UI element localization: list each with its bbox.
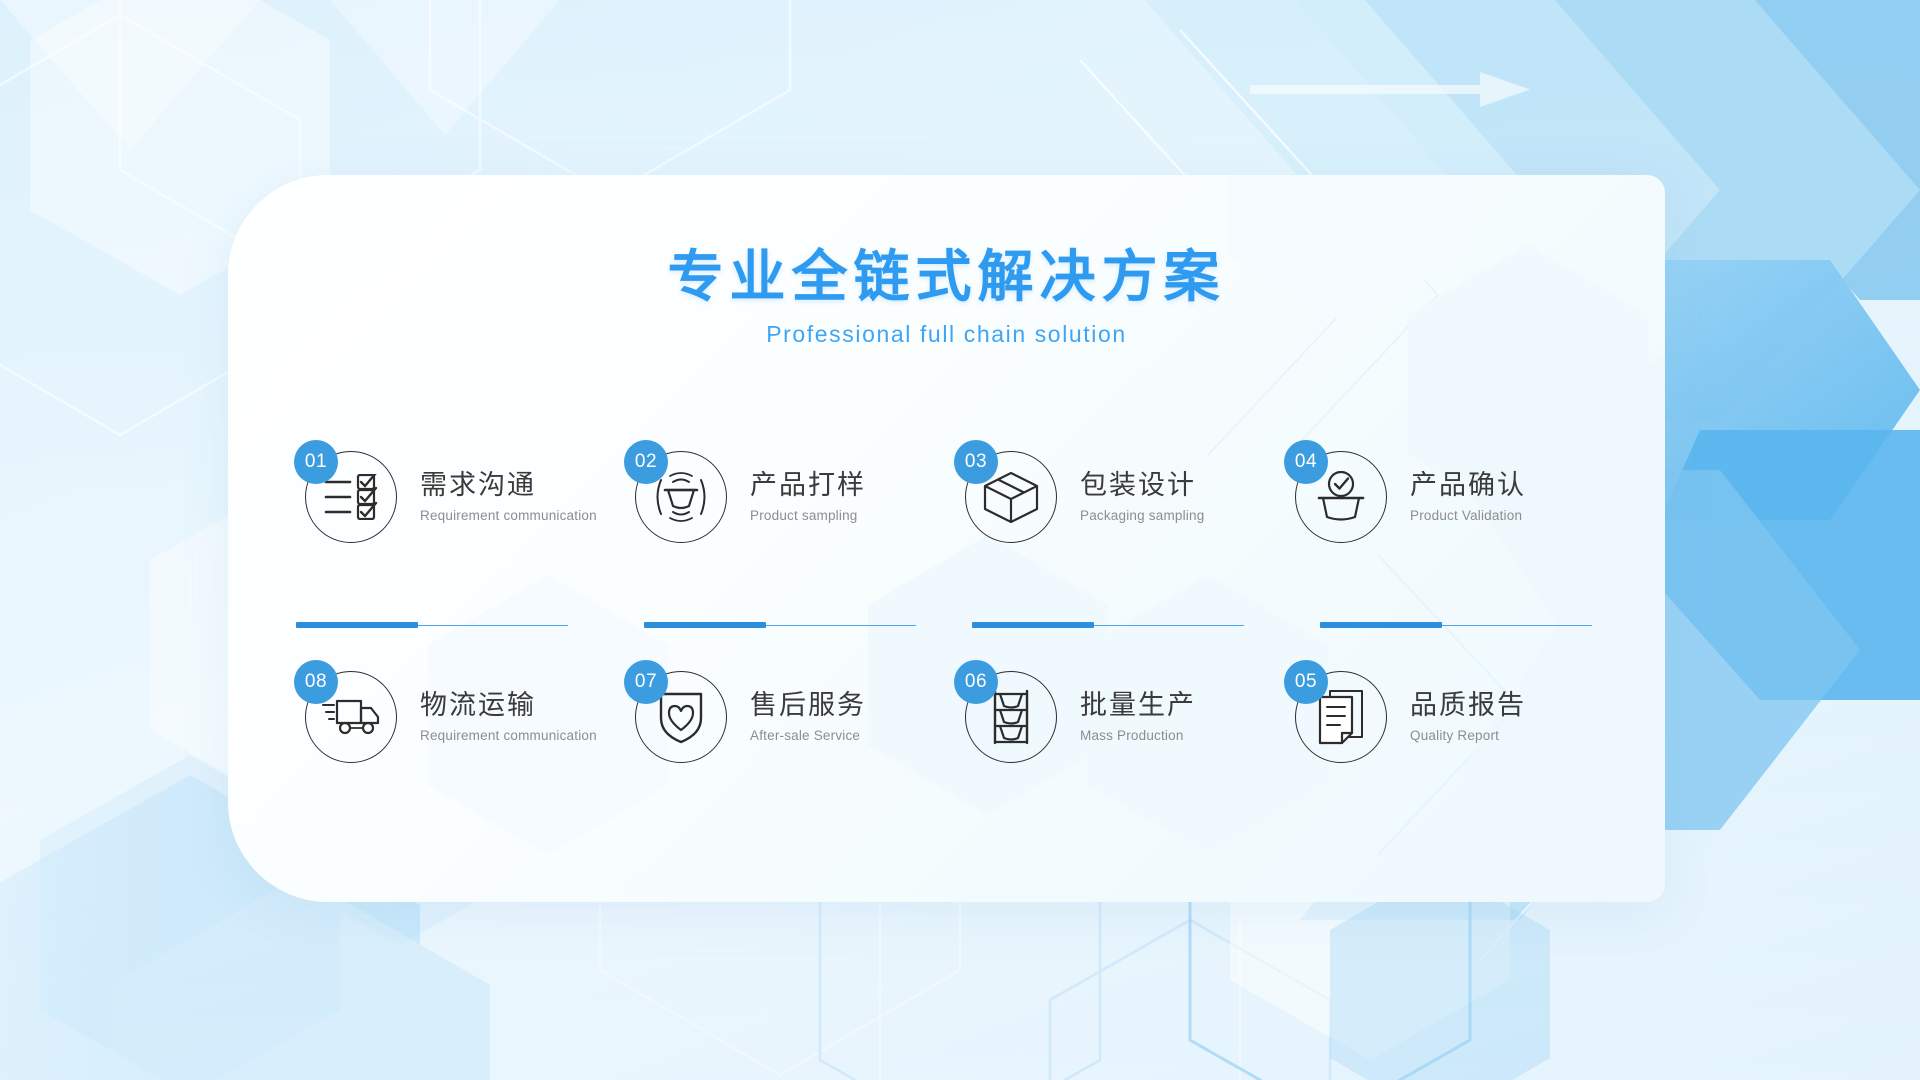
step-text: 需求沟通 Requirement communication: [420, 469, 597, 523]
step-number-badge: 06: [954, 660, 998, 704]
step-item-07[interactable]: 07 售后服务 After-sale Service: [626, 662, 956, 770]
progress-divider-2: [644, 622, 916, 628]
step-text: 包装设计 Packaging sampling: [1080, 469, 1204, 523]
divider-fill: [296, 622, 418, 628]
step-title-zh: 产品打样: [750, 469, 866, 503]
step-icon-wrap: 01: [296, 442, 404, 550]
step-text: 品质报告 Quality Report: [1410, 689, 1526, 743]
step-number-badge: 05: [1284, 660, 1328, 704]
step-title-en: Quality Report: [1410, 728, 1526, 743]
step-icon-wrap: 02: [626, 442, 734, 550]
step-title-zh: 需求沟通: [420, 469, 597, 503]
infographic-slide: 专业全链式解决方案 Professional full chain soluti…: [0, 0, 1920, 1080]
step-title-en: Packaging sampling: [1080, 508, 1204, 523]
step-text: 产品打样 Product sampling: [750, 469, 866, 523]
step-title-en: After-sale Service: [750, 728, 866, 743]
divider-fill: [1320, 622, 1442, 628]
step-number-badge: 02: [624, 440, 668, 484]
divider-row: [296, 622, 1616, 628]
step-icon-wrap: 07: [626, 662, 734, 770]
step-number-badge: 04: [1284, 440, 1328, 484]
progress-divider-3: [972, 622, 1244, 628]
step-title-zh: 物流运输: [420, 689, 597, 723]
step-icon-wrap: 05: [1286, 662, 1394, 770]
step-item-01[interactable]: 01 需求沟通 Requi: [296, 442, 626, 550]
step-item-06[interactable]: 06 批量生产 Mass: [956, 662, 1286, 770]
step-text: 售后服务 After-sale Service: [750, 689, 866, 743]
step-number-badge: 08: [294, 660, 338, 704]
step-text: 产品确认 Product Validation: [1410, 469, 1526, 523]
step-title-en: Mass Production: [1080, 728, 1196, 743]
step-number-badge: 03: [954, 440, 998, 484]
step-title-en: Requirement communication: [420, 508, 597, 523]
steps-row-top: 01 需求沟通 Requi: [296, 442, 1616, 550]
steps-row-bottom: 08 物流运输 Requirement commun: [296, 662, 1616, 770]
progress-divider-1: [296, 622, 568, 628]
page-subtitle: Professional full chain solution: [228, 321, 1665, 348]
step-icon-wrap: 03: [956, 442, 1064, 550]
divider-fill: [972, 622, 1094, 628]
step-item-05[interactable]: 05 品质报告 Quality Report: [1286, 662, 1616, 770]
step-text: 物流运输 Requirement communication: [420, 689, 597, 743]
step-icon-wrap: 06: [956, 662, 1064, 770]
step-title-zh: 批量生产: [1080, 689, 1196, 723]
step-title-zh: 包装设计: [1080, 469, 1204, 503]
step-text: 批量生产 Mass Production: [1080, 689, 1196, 743]
divider-fill: [644, 622, 766, 628]
step-icon-wrap: 04: [1286, 442, 1394, 550]
step-item-02[interactable]: 02 产品打样 Product sampling: [626, 442, 956, 550]
step-number-badge: 01: [294, 440, 338, 484]
step-icon-wrap: 08: [296, 662, 404, 770]
step-item-03[interactable]: 03 包装设计 Packaging sampling: [956, 442, 1286, 550]
heading-block: 专业全链式解决方案 Professional full chain soluti…: [228, 245, 1665, 348]
step-title-zh: 品质报告: [1410, 689, 1526, 723]
step-title-en: Product sampling: [750, 508, 866, 523]
step-title-zh: 售后服务: [750, 689, 866, 723]
step-number-badge: 07: [624, 660, 668, 704]
step-title-en: Product Validation: [1410, 508, 1526, 523]
step-item-08[interactable]: 08 物流运输 Requirement commun: [296, 662, 626, 770]
page-title: 专业全链式解决方案: [228, 245, 1665, 309]
step-item-04[interactable]: 04 产品确认 Product Validation: [1286, 442, 1616, 550]
step-title-en: Requirement communication: [420, 728, 597, 743]
step-title-zh: 产品确认: [1410, 469, 1526, 503]
progress-divider-4: [1320, 622, 1592, 628]
